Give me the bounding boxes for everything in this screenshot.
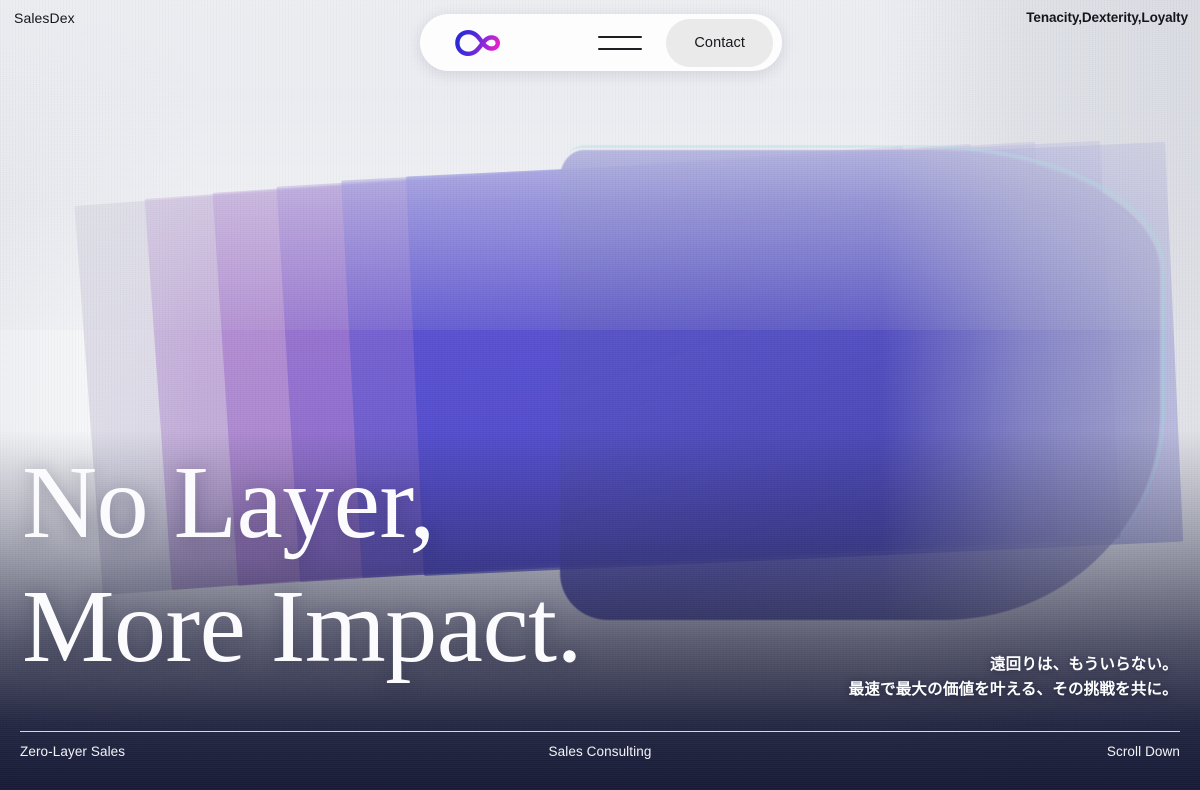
blob-shape — [560, 150, 1160, 620]
hero-page: SalesDex Tenacity,Dexterity,Loyalty Con — [0, 0, 1200, 790]
subcopy-line-1: 遠回りは、もういらない。 — [849, 652, 1178, 677]
scroll-down-indicator[interactable]: Scroll Down — [1107, 744, 1180, 759]
hamburger-line-top — [598, 36, 642, 38]
page-title: No Layer, More Impact. — [22, 452, 582, 678]
footer-item-zero-layer-sales[interactable]: Zero-Layer Sales — [20, 744, 125, 759]
hamburger-line-bottom — [598, 48, 642, 50]
infinity-logo-icon[interactable] — [454, 26, 502, 60]
brand-logo-text[interactable]: SalesDex — [14, 10, 75, 26]
header-tagline: Tenacity,Dexterity,Loyalty — [1026, 10, 1188, 25]
navigation-pill: Contact — [420, 14, 782, 71]
subcopy-line-2: 最速で最大の価値を叶える、その挑戦を共に。 — [849, 677, 1178, 702]
hero-subcopy: 遠回りは、もういらない。 最速で最大の価値を叶える、その挑戦を共に。 — [849, 652, 1178, 702]
contact-button[interactable]: Contact — [666, 19, 773, 67]
footer-divider — [20, 731, 1180, 732]
hamburger-menu-icon[interactable] — [598, 36, 642, 50]
footer-item-sales-consulting[interactable]: Sales Consulting — [549, 744, 652, 759]
headline-line-1: No Layer, — [22, 452, 582, 554]
footer-bar: Zero-Layer Sales Sales Consulting Scroll… — [0, 744, 1200, 774]
headline-line-2: More Impact. — [22, 576, 582, 678]
